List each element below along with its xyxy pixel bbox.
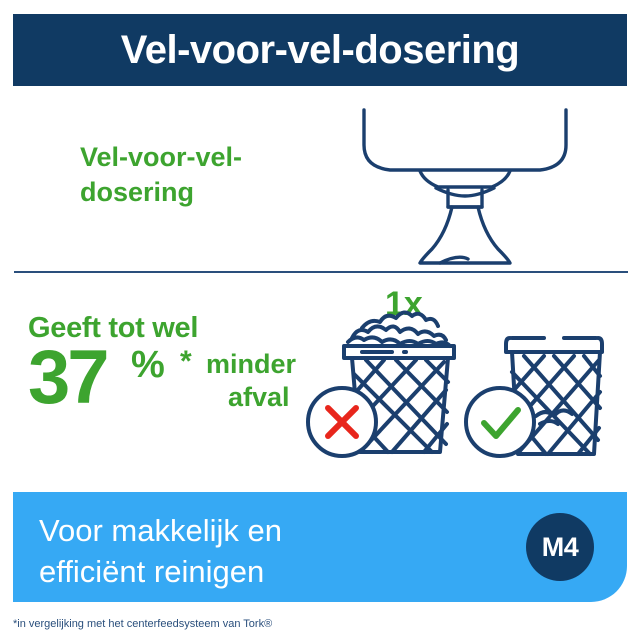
footer-title-line1: Voor makkelijk en [39, 513, 282, 548]
status-badge-cross [308, 388, 376, 456]
section-divider [14, 271, 628, 273]
waste-reduction-claim: Geeft tot wel 37 % * minder afval [28, 314, 338, 411]
dispenser-single-sheet-icon [340, 97, 590, 267]
footer-title: Voor makkelijk en efficiënt reinigen [39, 511, 419, 593]
footer-title-line2: efficiënt reinigen [39, 554, 264, 589]
sheet-dosing-claim: Vel-voor-vel- dosering [80, 140, 330, 209]
system-badge-label: M4 [542, 534, 579, 561]
waste-stat-unit: % [131, 346, 164, 384]
page-title: Vel-voor-vel-dosering [121, 30, 519, 70]
waste-claim-stat-row: 37 % * minder afval [28, 345, 338, 411]
waste-stat-number: 37 [28, 345, 107, 410]
system-badge: M4 [526, 513, 594, 581]
footnote: *in vergelijking met het centerfeedsyste… [13, 618, 272, 631]
infographic-card: Vel-voor-vel-dosering Vel-voor-vel- dose… [0, 0, 640, 640]
header-banner: Vel-voor-vel-dosering [13, 14, 627, 86]
section-waste-reduction: Geeft tot wel 37 % * minder afval [0, 282, 640, 478]
sheet-dosing-claim-line2: dosering [80, 177, 194, 207]
waste-stat-asterisk: * [180, 345, 192, 379]
status-badge-check [466, 388, 534, 456]
section-sheet-by-sheet: Vel-voor-vel- dosering 1x [0, 92, 640, 272]
waste-stat-tail-line1: minder [206, 349, 296, 379]
sheet-dosing-claim-line1: Vel-voor-vel- [80, 142, 242, 172]
waste-bins-illustration [300, 294, 620, 474]
